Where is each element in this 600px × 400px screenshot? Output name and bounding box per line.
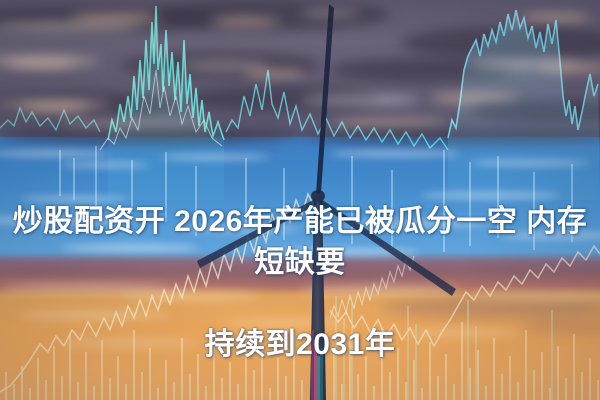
headline-line-1: 炒股配资开 2026年产能已被瓜分一空 内存短缺要 — [0, 201, 600, 283]
headline-line-2: 持续到2031年 — [0, 324, 600, 365]
headline-text: 炒股配资开 2026年产能已被瓜分一空 内存短缺要 持续到2031年 — [0, 160, 600, 400]
news-thumbnail: 炒股配资开 2026年产能已被瓜分一空 内存短缺要 持续到2031年 — [0, 0, 600, 400]
